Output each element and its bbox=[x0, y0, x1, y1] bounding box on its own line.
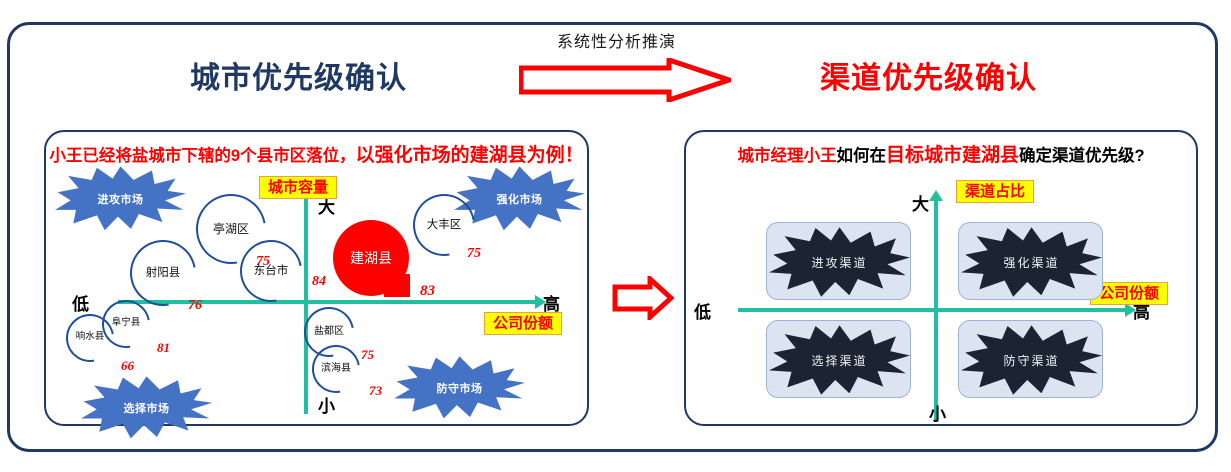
right-headline-seg4: 确定渠道优先级? bbox=[1019, 147, 1145, 165]
right-headline-seg3: 目标城市建湖县 bbox=[886, 145, 1019, 166]
left-star-select-market: 选择市场 bbox=[81, 375, 212, 441]
right-star-attack-channel-label: 进攻渠道 bbox=[769, 225, 910, 299]
bubble-dongtai: 东台市 84 bbox=[240, 240, 302, 302]
left-headline-part2: 以强化市场的建湖县为例！ bbox=[356, 145, 584, 166]
bubble-binhai-value: 73 bbox=[369, 383, 382, 399]
bubble-yandu-value: 75 bbox=[361, 347, 374, 363]
right-card-defend-channel: 防守渠道 bbox=[958, 320, 1103, 398]
right-star-defend-channel: 防守渠道 bbox=[961, 323, 1102, 397]
right-panel-headline: 城市经理小王如何在目标城市建湖县确定渠道优先级? bbox=[686, 140, 1196, 167]
bubble-sheyang-value: 76 bbox=[188, 298, 202, 314]
left-star-attack-market: 进攻市场 bbox=[55, 165, 186, 233]
right-star-select-channel-label: 选择渠道 bbox=[769, 323, 910, 397]
bubble-jianhu-value: 83 bbox=[420, 283, 435, 300]
left-chart-y-bottom-label: 小 bbox=[318, 392, 335, 417]
bubble-dongtai-value: 84 bbox=[312, 274, 326, 290]
bubble-funing-value: 81 bbox=[157, 340, 170, 356]
left-star-select-market-label: 选择市场 bbox=[81, 375, 212, 441]
left-star-defend-market: 防守市场 bbox=[394, 355, 525, 421]
right-card-attack-channel: 进攻渠道 bbox=[766, 222, 911, 300]
slide-canvas: 城市优先级确认 系统性分析推演 渠道优先级确认 小王已经将盐城市下辖的9个县市区… bbox=[0, 0, 1231, 472]
bubble-binhai: 滨海县 73 bbox=[312, 345, 360, 393]
bubble-dongtai-label: 东台市 bbox=[240, 240, 302, 302]
right-chart-y-axis-arrowhead bbox=[929, 190, 943, 201]
left-star-defend-market-label: 防守市场 bbox=[394, 355, 525, 421]
right-star-select-channel: 选择渠道 bbox=[769, 323, 910, 397]
right-chart-y-top-label: 大 bbox=[912, 190, 929, 215]
right-card-strengthen-channel: 强化渠道 bbox=[958, 222, 1103, 300]
left-matrix-panel: 小王已经将盐城市下辖的9个县市区落位，以强化市场的建湖县为例！ 大 小 低 高 … bbox=[44, 130, 589, 426]
right-star-strengthen-channel-label: 强化渠道 bbox=[961, 225, 1102, 299]
bubble-sheyang: 射阳县 76 bbox=[130, 240, 196, 306]
flow-arrow-icon bbox=[519, 58, 731, 102]
flow-arrow-label: 系统性分析推演 bbox=[557, 28, 676, 52]
bubble-binhai-label: 滨海县 bbox=[312, 345, 360, 393]
right-star-strengthen-channel: 强化渠道 bbox=[961, 225, 1102, 299]
left-headline-part1: 小王已经将盐城市下辖的9个县市区落位， bbox=[49, 147, 355, 165]
right-chart-x-left-label: 低 bbox=[694, 298, 711, 323]
bubble-funing-label: 阜宁县 bbox=[102, 300, 150, 348]
left-panel-headline: 小王已经将盐城市下辖的9个县市区落位，以强化市场的建湖县为例！ bbox=[46, 140, 587, 167]
right-matrix-panel: 城市经理小王如何在目标城市建湖县确定渠道优先级? 大 小 低 高 渠道占比 公司… bbox=[684, 130, 1198, 426]
left-chart-x-axis-title: 公司份额 bbox=[484, 312, 562, 335]
right-star-attack-channel: 进攻渠道 bbox=[769, 225, 910, 299]
bubble-jianhu-focus: 建湖县 83 bbox=[333, 220, 409, 296]
right-headline-seg1: 城市经理小王 bbox=[737, 147, 836, 165]
left-chart-x-left-label: 低 bbox=[72, 290, 89, 315]
bubble-xiangshui-value: 66 bbox=[121, 358, 134, 374]
right-star-defend-channel-label: 防守渠道 bbox=[961, 323, 1102, 397]
bubble-sheyang-label: 射阳县 bbox=[130, 240, 196, 306]
bubble-dafeng: 大丰区 75 bbox=[413, 194, 475, 256]
bubble-dafeng-value: 75 bbox=[467, 246, 481, 262]
right-chart-y-axis-title: 渠道占比 bbox=[956, 180, 1034, 203]
left-star-attack-market-label: 进攻市场 bbox=[55, 165, 186, 233]
left-chart-y-axis-title: 城市容量 bbox=[259, 176, 337, 199]
right-chart-y-bottom-label: 小 bbox=[929, 400, 946, 425]
panel-transition-arrow-icon bbox=[612, 276, 674, 320]
right-card-select-channel: 选择渠道 bbox=[766, 320, 911, 398]
bubble-jianhu-label: 建湖县 bbox=[333, 220, 409, 296]
right-headline-seg2: 如何在 bbox=[836, 147, 886, 165]
right-section-title: 渠道优先级确认 bbox=[820, 53, 1037, 97]
left-section-title: 城市优先级确认 bbox=[190, 53, 407, 97]
bubble-funing: 阜宁县 81 bbox=[102, 300, 150, 348]
bubble-dafeng-label: 大丰区 bbox=[413, 194, 475, 256]
right-chart-x-axis bbox=[738, 308, 1126, 312]
